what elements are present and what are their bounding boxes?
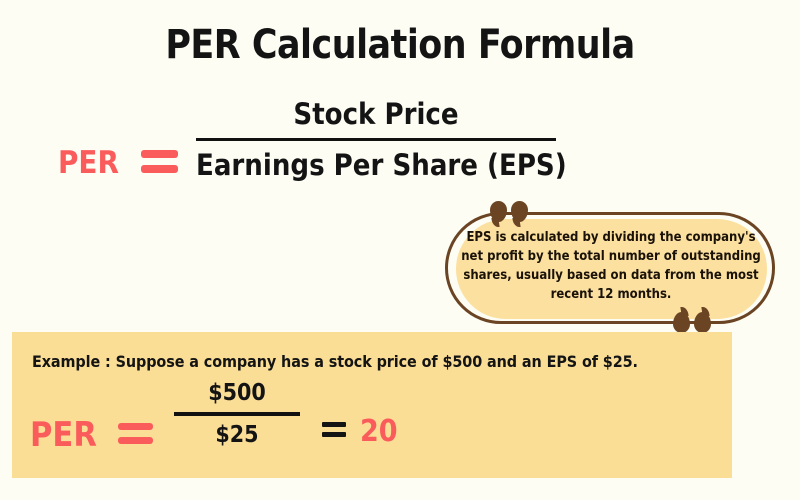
eps-callout-bubble: EPS is calculated by dividing the compan… — [445, 212, 775, 324]
equals-bar-top — [141, 150, 178, 158]
example-panel: Example : Suppose a company has a stock … — [12, 332, 732, 478]
equals-bar-top — [322, 422, 346, 427]
fraction-denominator: Earnings Per Share (EPS) — [196, 141, 556, 180]
equals-bar-bottom — [322, 432, 346, 437]
quote-close-icon — [673, 312, 711, 333]
example-formula: PER $500 $25 20 — [30, 382, 430, 474]
fraction: $500 $25 — [174, 382, 300, 447]
equals-bar-top — [118, 423, 153, 430]
quote-open-icon — [490, 201, 528, 222]
equals-sign-icon — [118, 423, 153, 444]
equals-bar-bottom — [141, 165, 178, 173]
infographic-canvas: PER Calculation Formula PER Stock Price … — [0, 0, 800, 500]
quote-mark-left — [490, 201, 507, 222]
example-description: Example : Suppose a company has a stock … — [32, 352, 638, 371]
quote-mark-left — [694, 312, 711, 333]
fraction-denominator: $25 — [174, 416, 300, 447]
equals-bar-bottom — [118, 437, 153, 444]
result-equals-sign-icon — [322, 422, 346, 437]
callout-text: EPS is calculated by dividing the compan… — [457, 228, 765, 304]
fraction: Stock Price Earnings Per Share (EPS) — [196, 100, 556, 180]
equals-sign-icon — [141, 150, 178, 173]
quote-mark-right — [673, 312, 690, 333]
quote-mark-right — [511, 201, 528, 222]
page-title: PER Calculation Formula — [12, 22, 788, 68]
fraction-numerator: Stock Price — [196, 100, 556, 138]
main-formula: PER Stock Price Earnings Per Share (EPS) — [58, 100, 578, 205]
fraction-numerator: $500 — [174, 382, 300, 412]
per-label: PER — [58, 145, 119, 181]
result-value: 20 — [360, 414, 398, 449]
per-label: PER — [30, 415, 97, 455]
